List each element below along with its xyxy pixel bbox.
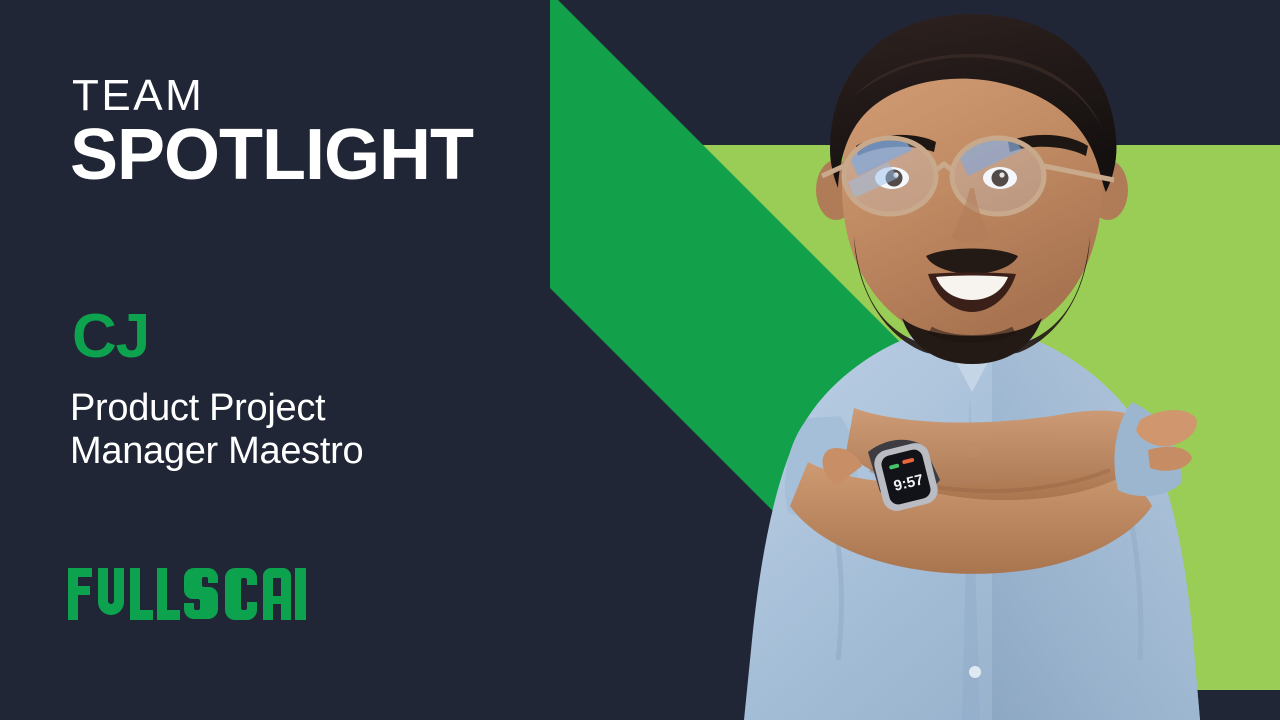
page-title: SPOTLIGHT <box>70 119 473 191</box>
full-scale-logo-wordmark <box>68 568 306 620</box>
person-portrait: 9:57 <box>640 0 1280 720</box>
person-role: Product Project Manager Maestro <box>70 387 363 472</box>
full-scale-logo[interactable] <box>66 566 306 622</box>
head <box>816 14 1128 364</box>
team-spotlight-card: 9:57 <box>0 0 1280 720</box>
person-name: CJ <box>72 306 149 368</box>
eyebrow-label: TEAM <box>72 74 204 118</box>
